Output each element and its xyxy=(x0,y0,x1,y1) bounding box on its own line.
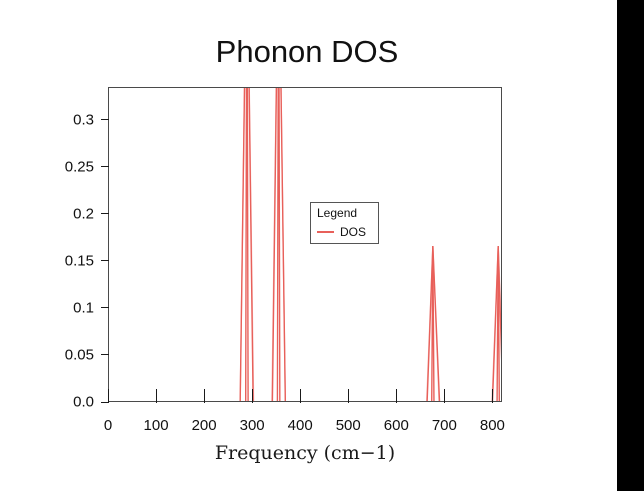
dos-peak-spike xyxy=(432,246,434,402)
plot-area xyxy=(108,87,502,402)
y-axis-tick-label: 0.2 xyxy=(30,205,94,222)
dos-peak-spike xyxy=(246,88,248,402)
dos-curve xyxy=(109,88,502,402)
x-axis-tick-label: 700 xyxy=(432,417,457,434)
x-axis-tick-label: 300 xyxy=(240,417,265,434)
y-axis-tick-label: 0.15 xyxy=(30,252,94,269)
y-axis-tick-label: 0.05 xyxy=(30,346,94,363)
legend-item-dos: DOS xyxy=(317,225,366,239)
x-axis-tick-label: 600 xyxy=(384,417,409,434)
legend: Legend DOS xyxy=(310,202,379,244)
page-title: Phonon DOS xyxy=(0,34,614,70)
y-axis-tick-label: 0.3 xyxy=(30,111,94,128)
x-axis-tick-label: 200 xyxy=(192,417,217,434)
dos-line-plot xyxy=(109,88,502,402)
x-axis-tick-label: 400 xyxy=(288,417,313,434)
x-axis-tick-label: 800 xyxy=(480,417,505,434)
y-axis-tick-label: 0.1 xyxy=(30,299,94,316)
legend-title: Legend xyxy=(317,206,357,220)
dos-peak-spike xyxy=(497,246,499,402)
right-black-band xyxy=(617,0,644,491)
legend-item-label: DOS xyxy=(340,225,366,239)
y-axis-tick-label: 0.25 xyxy=(30,158,94,175)
x-axis-tick-label: 500 xyxy=(336,417,361,434)
x-axis-title: Frequency (cm−1) xyxy=(108,442,502,464)
legend-line-swatch-icon xyxy=(317,231,334,233)
dos-peak-spike xyxy=(277,88,279,402)
y-axis-tick-label: 0.0 xyxy=(30,394,94,411)
x-axis-tick-label: 100 xyxy=(144,417,169,434)
chart-screenshot: Phonon DOS 0.00.050.10.150.20.250.3 0100… xyxy=(0,0,644,491)
x-axis-tick-label: 0 xyxy=(104,417,112,434)
series-dos xyxy=(109,88,502,402)
